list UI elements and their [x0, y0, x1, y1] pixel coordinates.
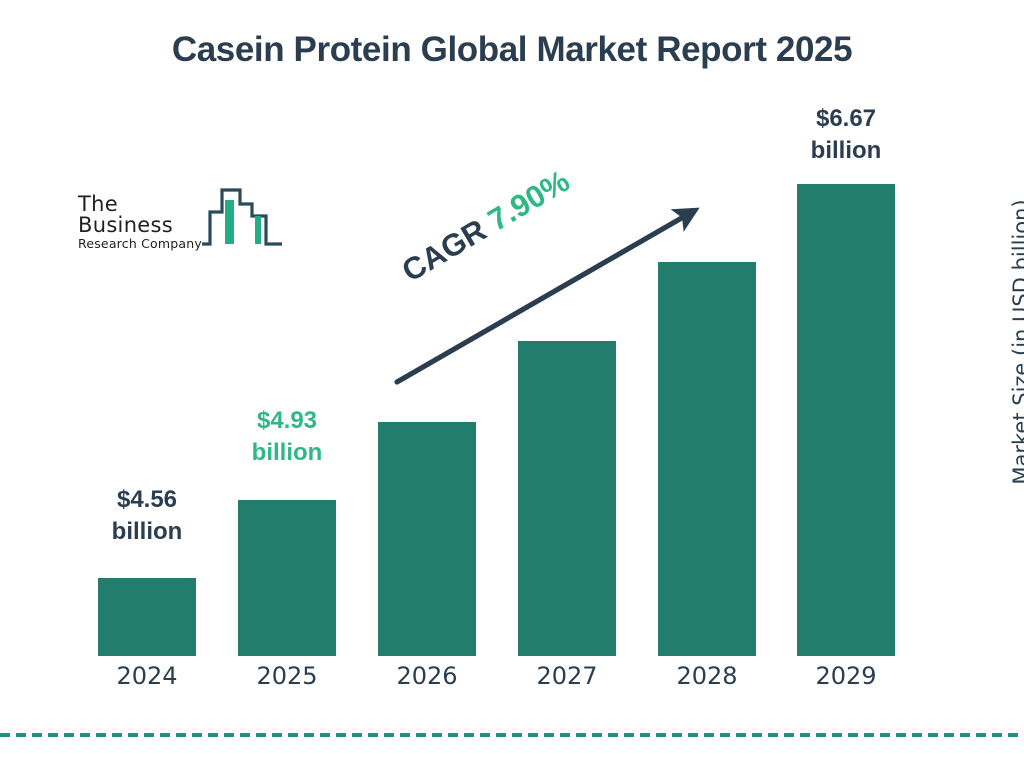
- y-axis-title: Market Size (in USD billion): [1009, 177, 1024, 507]
- xtick-2026: 2026: [357, 662, 497, 690]
- bar-2025: [238, 500, 336, 656]
- xtick-2024: 2024: [77, 662, 217, 690]
- xtick-2027: 2027: [497, 662, 637, 690]
- value-label-2029-unit: billion: [771, 135, 921, 167]
- value-label-2025-amount: $4.93: [212, 405, 362, 437]
- xtick-2028: 2028: [637, 662, 777, 690]
- value-label-2024-unit: billion: [72, 516, 222, 548]
- bar-chart: 2024 2025 2026 2027 2028 2029 $4.56 bill…: [0, 0, 1024, 768]
- footer-divider: [0, 733, 1024, 737]
- value-label-2029-amount: $6.67: [771, 103, 921, 135]
- bar-2024: [98, 578, 196, 656]
- value-label-2024: $4.56 billion: [72, 484, 222, 547]
- growth-arrow-icon: [380, 190, 720, 395]
- xtick-2025: 2025: [217, 662, 357, 690]
- bar-2029: [797, 184, 895, 656]
- xtick-2029: 2029: [776, 662, 916, 690]
- value-label-2024-amount: $4.56: [72, 484, 222, 516]
- value-label-2025: $4.93 billion: [212, 405, 362, 468]
- value-label-2029: $6.67 billion: [771, 103, 921, 166]
- bar-2026: [378, 422, 476, 656]
- value-label-2025-unit: billion: [212, 437, 362, 469]
